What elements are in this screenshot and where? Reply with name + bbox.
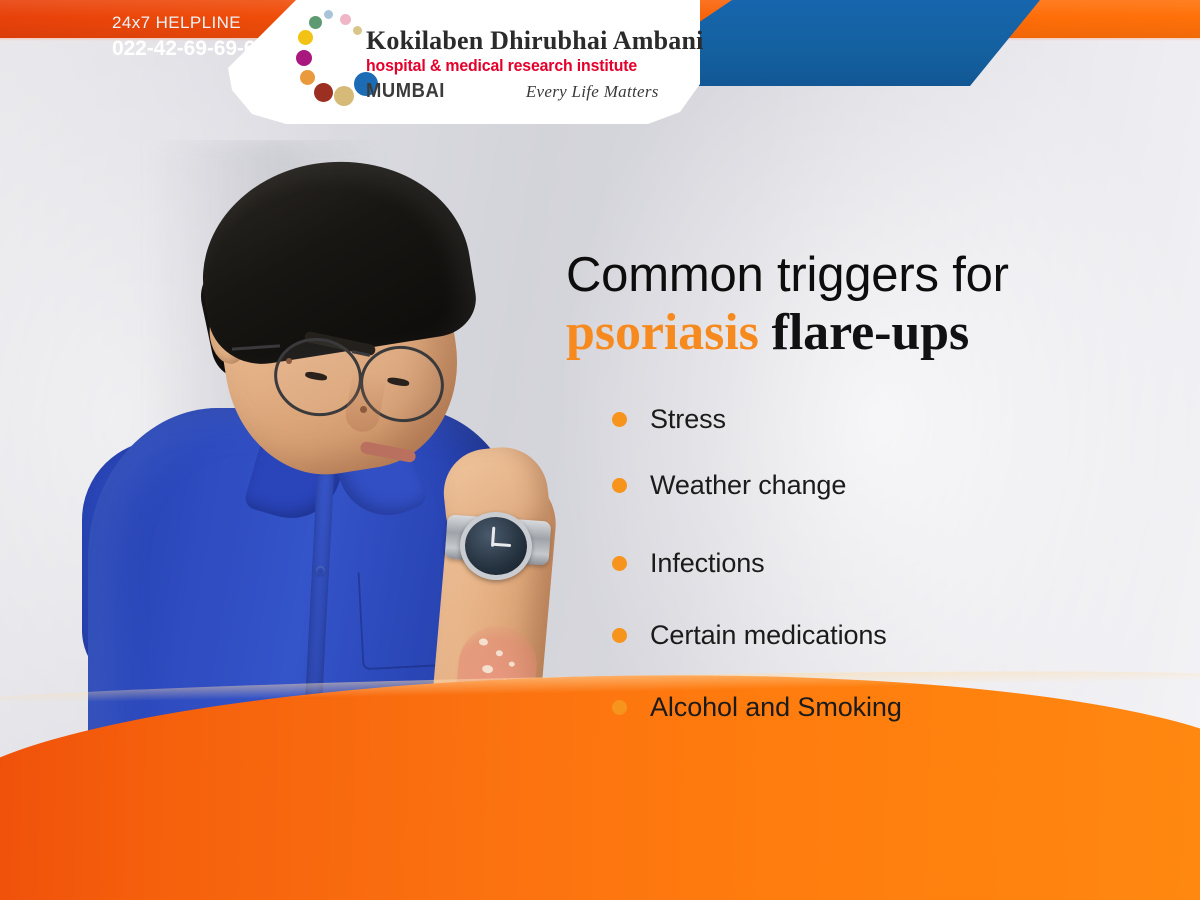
- shirt-button: [316, 566, 325, 575]
- hospital-tagline: Every Life Matters: [526, 82, 659, 102]
- bullet-dot-icon: [612, 628, 627, 643]
- list-item: Weather change: [612, 470, 1172, 501]
- trigger-label: Weather change: [650, 470, 846, 501]
- list-item: Certain medications: [612, 620, 1172, 651]
- headline-line-1: Common triggers for: [566, 246, 1146, 304]
- list-item: Infections: [612, 548, 1172, 579]
- eye: [305, 371, 328, 382]
- headline-group: Common triggers for psoriasis flare-ups: [566, 246, 1146, 364]
- logo-text-group: Kokilaben Dhirubhai Ambani hospital & me…: [366, 26, 704, 103]
- headline-line-2-rest: flare-ups: [759, 304, 969, 361]
- bullet-dot-icon: [612, 556, 627, 571]
- infographic-canvas: 24x7 HELPLINE 022-42-69-69-69 Kokilaben …: [0, 0, 1200, 900]
- list-item: Stress: [612, 404, 1172, 435]
- hospital-name: Kokilaben Dhirubhai Ambani: [366, 26, 704, 56]
- trigger-label: Infections: [650, 548, 765, 579]
- trigger-label: Alcohol and Smoking: [650, 692, 902, 723]
- logo-dot-ring-icon: [296, 10, 368, 106]
- bullet-dot-icon: [612, 412, 627, 427]
- headline-line-2: psoriasis flare-ups: [566, 302, 1146, 364]
- trigger-label: Stress: [650, 404, 726, 435]
- helpline-label: 24x7 HELPLINE: [112, 12, 267, 34]
- list-item: Alcohol and Smoking: [612, 692, 1172, 723]
- bullet-dot-icon: [612, 700, 627, 715]
- hospital-city: MUMBAI: [366, 80, 445, 103]
- face-mole: [286, 358, 292, 364]
- headline-accent-word: psoriasis: [566, 304, 759, 361]
- trigger-list: Stress Weather change Infections Certain…: [612, 404, 1172, 723]
- face-mole: [360, 406, 367, 413]
- bullet-dot-icon: [612, 478, 627, 493]
- eye: [387, 376, 410, 387]
- hospital-subtitle: hospital & medical research institute: [366, 56, 690, 76]
- trigger-label: Certain medications: [650, 620, 887, 651]
